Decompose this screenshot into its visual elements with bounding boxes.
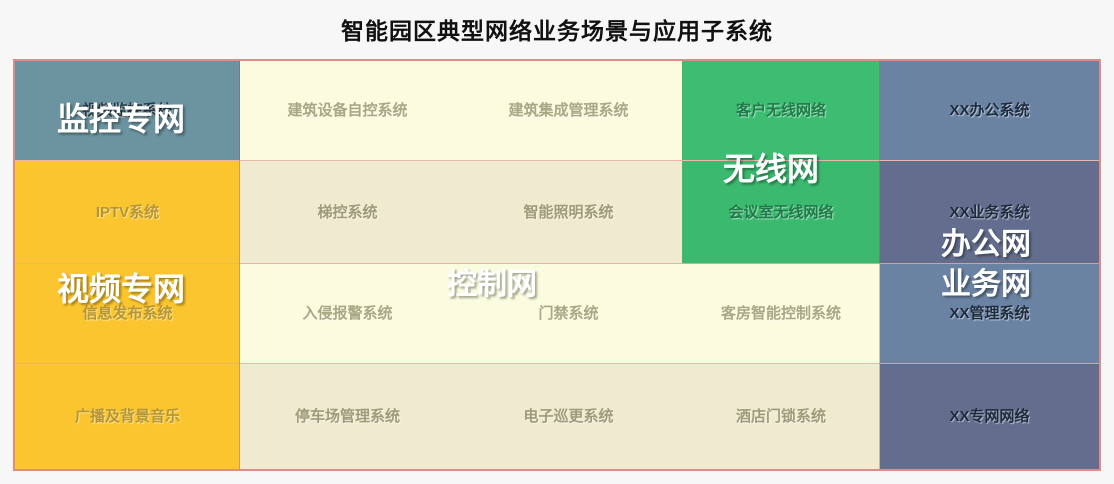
cell-r1c1-label: 视频监控系统 [82,102,172,120]
cell-r3c2[interactable]: 入侵报警系统 [240,264,455,364]
cell-r4c4[interactable]: 酒店门锁系统 [682,364,880,469]
cell-r4c5[interactable]: XX专网网络 [880,364,1099,469]
cell-r2c4-label: 会议室无线网络 [728,204,833,222]
col-divider-1 [239,61,240,469]
cell-r4c3[interactable]: 电子巡更系统 [455,364,682,469]
cell-r3c1[interactable]: 信息发布系统 [15,264,240,364]
cell-r2c2-label: 梯控系统 [317,204,377,222]
cell-r4c2-label: 停车场管理系统 [295,408,400,426]
cell-r3c1-label: 信息发布系统 [82,305,172,323]
cell-r4c2[interactable]: 停车场管理系统 [240,364,455,469]
cell-r3c5[interactable]: XX管理系统 [880,264,1099,364]
cell-r2c3-label: 智能照明系统 [523,204,613,222]
cell-r3c2-label: 入侵报警系统 [302,305,392,323]
row-divider-2 [15,263,1099,264]
cell-r2c5-label: XX业务系统 [949,204,1029,222]
cell-r3c3-label: 门禁系统 [538,305,598,323]
col-divider-4 [879,61,880,469]
cell-r2c4[interactable]: 会议室无线网络 [682,161,880,264]
cell-r4c1[interactable]: 广播及背景音乐 [15,364,240,469]
cell-r2c1[interactable]: IPTV系统 [15,161,240,264]
cell-r1c2-label: 建筑设备自控系统 [287,102,407,120]
cell-r1c1[interactable]: 视频监控系统 [15,61,240,160]
title-bar: 智能园区典型网络业务场景与应用子系统 [0,0,1114,58]
cell-r3c3[interactable]: 门禁系统 [455,264,682,364]
cell-r1c3-label: 建筑集成管理系统 [508,102,628,120]
cell-r3c5-label: XX管理系统 [949,305,1029,323]
network-zone-matrix: 视频监控系统 建筑设备自控系统 建筑集成管理系统 客户无线网络 XX办公系统 I… [13,59,1101,471]
cell-r1c5-label: XX办公系统 [949,102,1029,120]
cell-r3c4-label: 客房智能控制系统 [721,305,841,323]
cell-r4c3-label: 电子巡更系统 [523,408,613,426]
cell-r2c1-label: IPTV系统 [96,204,159,222]
cell-r2c5[interactable]: XX业务系统 [880,161,1099,264]
cell-r1c4[interactable]: 客户无线网络 [682,61,880,160]
cell-r3c4[interactable]: 客房智能控制系统 [682,264,880,364]
cell-r4c5-label: XX专网网络 [949,408,1029,426]
page-title: 智能园区典型网络业务场景与应用子系统 [341,12,773,46]
row-divider-1 [15,160,1099,161]
cell-r1c5[interactable]: XX办公系统 [880,61,1099,160]
cell-r4c4-label: 酒店门锁系统 [736,408,826,426]
cell-r2c3[interactable]: 智能照明系统 [455,161,682,264]
cell-r1c3[interactable]: 建筑集成管理系统 [455,61,682,160]
cell-r1c4-label: 客户无线网络 [736,102,826,120]
cell-r4c1-label: 广播及背景音乐 [75,408,180,426]
cell-r1c2[interactable]: 建筑设备自控系统 [240,61,455,160]
cell-r2c2[interactable]: 梯控系统 [240,161,455,264]
row-divider-3 [15,363,1099,364]
